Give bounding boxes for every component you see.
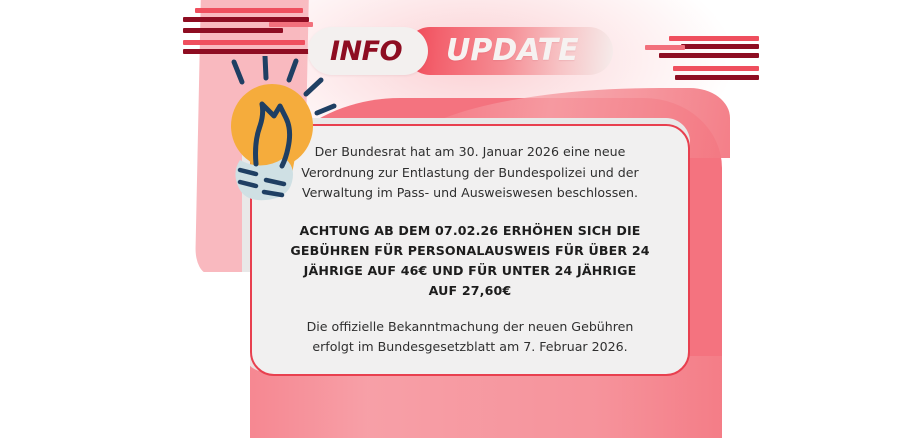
- decorative-stripe: [681, 44, 759, 49]
- decorative-stripe: [675, 75, 759, 80]
- card-paragraph-outro: Die offizielle Bekanntmachung der neuen …: [288, 317, 652, 358]
- lightbulb-glass: [231, 84, 313, 168]
- decorative-stripe: [183, 40, 305, 45]
- info-update-poster: Der Bundesrat hat am 30. Januar 2026 ein…: [0, 0, 920, 438]
- banner-update-pill: UPDATE: [406, 27, 613, 75]
- decorative-stripe: [659, 53, 759, 58]
- decorative-stripe: [673, 66, 759, 71]
- lightbulb-icon: [218, 56, 344, 206]
- background-white-mask: [0, 272, 250, 438]
- header-banner: INFO UPDATE: [308, 27, 613, 75]
- decorative-stripe: [269, 22, 313, 27]
- decorative-stripes-left: [183, 8, 313, 60]
- decorative-stripe: [669, 36, 759, 41]
- card-paragraph-highlight: ACHTUNG AB DEM 07.02.26 ERHÖHEN SICH DIE…: [288, 221, 652, 301]
- decorative-stripe: [195, 8, 303, 13]
- decorative-stripe: [183, 49, 309, 54]
- decorative-stripe: [645, 45, 685, 50]
- decorative-stripe: [183, 28, 283, 33]
- decorative-stripes-right: [645, 36, 763, 86]
- banner-update-label: UPDATE: [446, 36, 579, 66]
